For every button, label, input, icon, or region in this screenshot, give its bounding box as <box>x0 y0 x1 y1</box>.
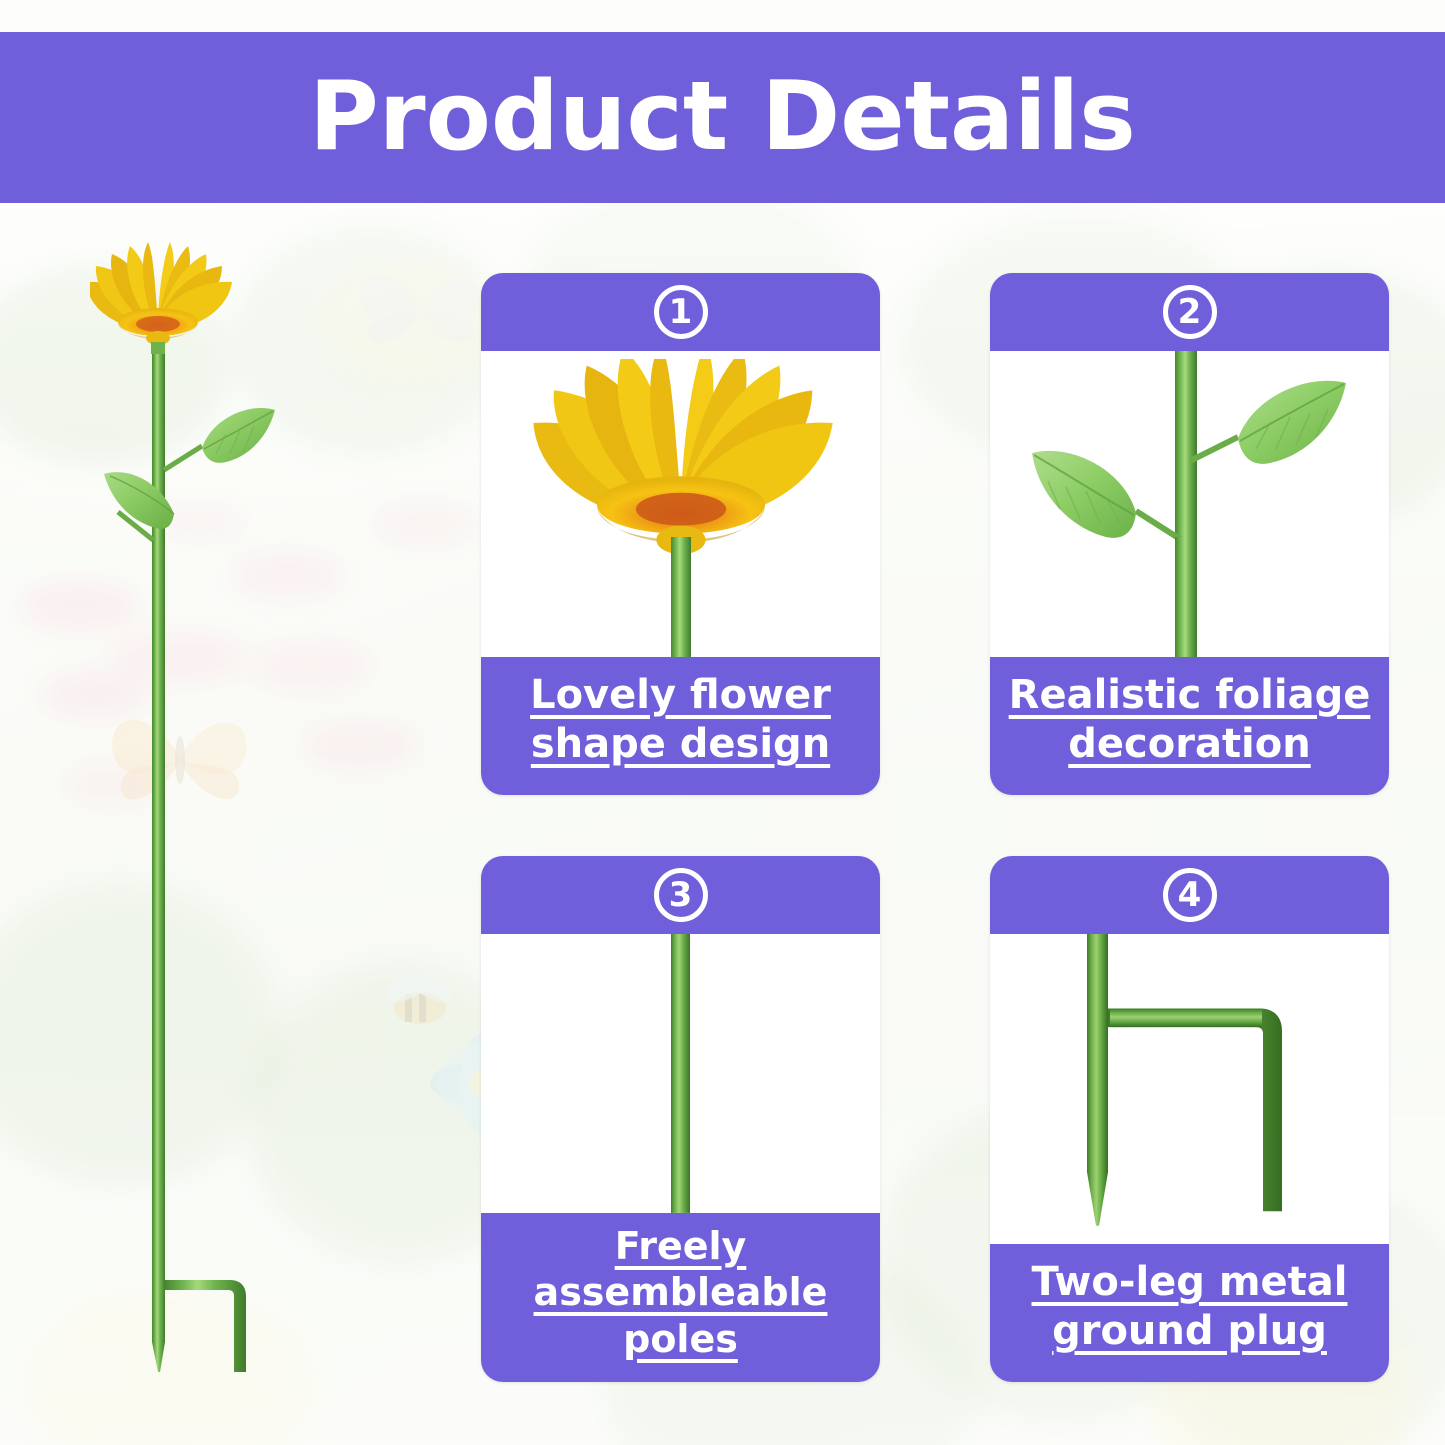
card-1-caption: Lovely flower shape design <box>481 657 880 795</box>
card-3-caption-line-1: Freely <box>615 1224 747 1268</box>
detail-card-2[interactable]: 2 <box>990 273 1389 795</box>
foliage-closeup-stem-lower <box>990 537 1389 657</box>
pole-closeup-svg <box>481 934 880 1213</box>
card-3-caption-line-3: poles <box>623 1317 738 1361</box>
card-2-photo-foliage-closeup <box>990 351 1389 657</box>
card-1-number-badge: 1 <box>654 285 708 339</box>
card-3-header: 3 <box>481 856 880 934</box>
page-title: Product Details <box>309 70 1136 165</box>
ground-plug <box>152 1268 246 1372</box>
flower-head <box>90 242 232 354</box>
card-4-header: 4 <box>990 856 1389 934</box>
flower-closeup-stem-lower <box>481 537 880 657</box>
card-4-photo-ground-plug-closeup <box>990 934 1389 1244</box>
leaf-right <box>164 408 275 470</box>
card-2-header: 2 <box>990 273 1389 351</box>
leaf-upper-right <box>1190 381 1346 464</box>
detail-card-3[interactable]: 3 Freely assembleable poles <box>481 856 880 1382</box>
card-4-caption-line-2: ground plug <box>1052 1308 1327 1354</box>
card-1-caption-line-1: Lovely flower <box>530 672 831 718</box>
card-2-caption: Realistic foliage decoration <box>990 657 1389 795</box>
card-2-number-badge: 2 <box>1163 285 1217 339</box>
ground-plug-closeup-svg <box>990 934 1389 1244</box>
leaf-lower-left <box>1032 451 1180 539</box>
card-4-number-badge: 4 <box>1163 868 1217 922</box>
detail-card-4[interactable]: 4 <box>990 856 1389 1382</box>
card-3-number-badge: 3 <box>654 868 708 922</box>
card-1-header: 1 <box>481 273 880 351</box>
detail-card-1[interactable]: 1 <box>481 273 880 795</box>
card-1-photo-flower-head-closeup <box>481 351 880 657</box>
hero-product-image <box>90 240 420 1420</box>
hero-product-svg <box>90 240 420 1420</box>
card-3-photo-pole-closeup <box>481 934 880 1213</box>
product-details-infographic: Product Details <box>0 0 1445 1445</box>
card-1-caption-line-2: shape design <box>531 721 830 767</box>
card-4-caption: Two-leg metal ground plug <box>990 1244 1389 1382</box>
card-2-caption-line-2: decoration <box>1068 721 1310 767</box>
card-2-caption-line-1: Realistic foliage <box>1009 672 1371 718</box>
header-banner: Product Details <box>0 32 1445 203</box>
card-4-caption-line-1: Two-leg metal <box>1032 1259 1348 1305</box>
card-3-caption-line-2: assembleable <box>534 1270 828 1314</box>
card-3-caption: Freely assembleable poles <box>481 1213 880 1382</box>
